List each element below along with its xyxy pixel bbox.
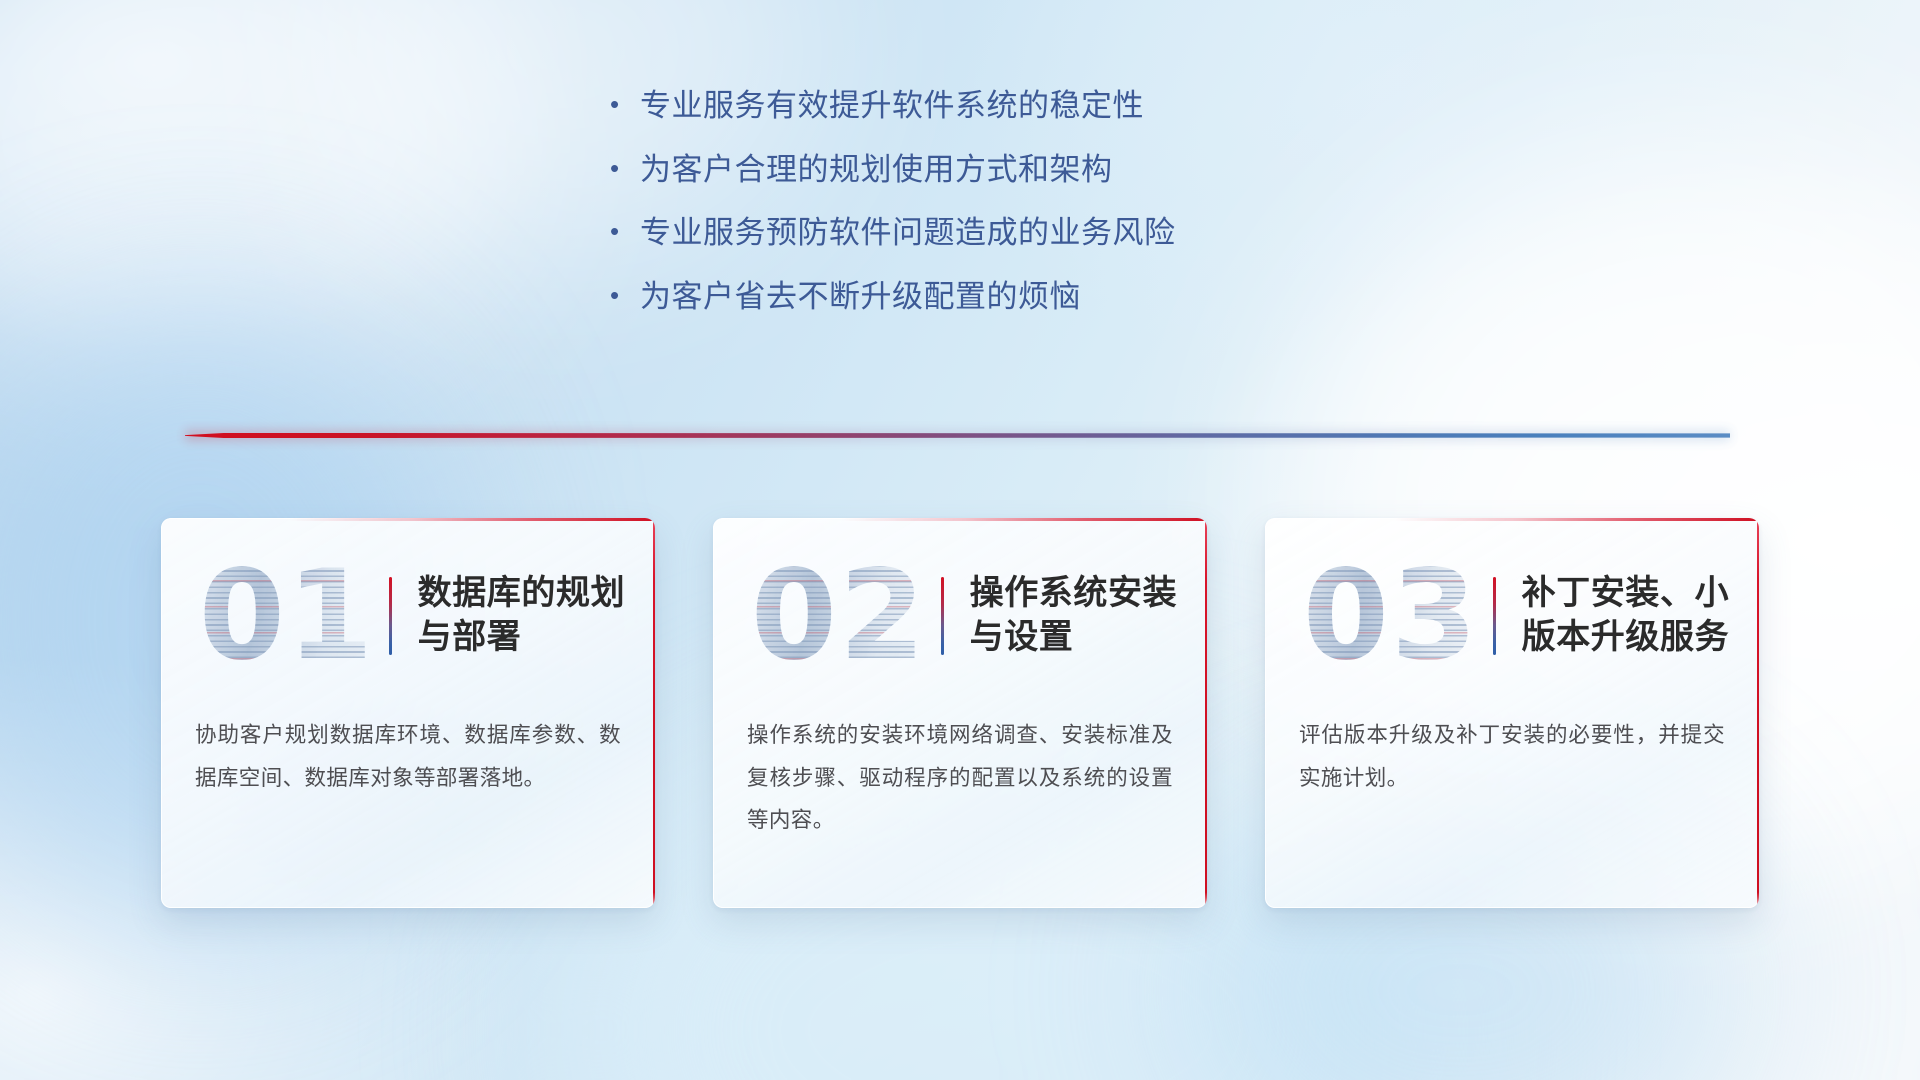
card-description: 评估版本升级及补丁安装的必要性，并提交实施计划。 bbox=[1299, 714, 1725, 799]
bullet-dot-icon: • bbox=[610, 155, 640, 181]
card-number-watermark: 02 bbox=[741, 554, 937, 678]
section-divider bbox=[185, 430, 1730, 441]
card-description: 协助客户规划数据库环境、数据库参数、数据库空间、数据库对象等部署落地。 bbox=[195, 714, 621, 799]
service-card-01[interactable]: 01 数据库的规划与部署 协助客户规划数据库环境、数据库参数、数据库空间、数据库… bbox=[161, 518, 655, 908]
list-item: • 为客户合理的规划使用方式和架构 bbox=[610, 152, 1310, 189]
list-item-label: 为客户合理的规划使用方式和架构 bbox=[640, 152, 1113, 189]
bullet-dot-icon: • bbox=[610, 282, 640, 308]
divider-bar bbox=[185, 433, 1730, 438]
list-item-label: 专业服务预防软件问题造成的业务风险 bbox=[640, 215, 1176, 252]
service-card-02[interactable]: 02 操作系统安装与设置 操作系统的安装环境网络调查、安装标准及复核步骤、驱动程… bbox=[713, 518, 1207, 908]
card-header: 03 补丁安装、小版本升级服务 bbox=[1265, 518, 1759, 714]
card-title: 补丁安装、小版本升级服务 bbox=[1522, 572, 1759, 659]
service-card-row: 01 数据库的规划与部署 协助客户规划数据库环境、数据库参数、数据库空间、数据库… bbox=[0, 518, 1920, 930]
card-title: 操作系统安装与设置 bbox=[970, 572, 1207, 659]
bullet-dot-icon: • bbox=[610, 91, 640, 117]
card-title-divider bbox=[1493, 577, 1496, 655]
card-header: 02 操作系统安装与设置 bbox=[713, 518, 1207, 714]
bullet-dot-icon: • bbox=[610, 218, 640, 244]
service-card-03[interactable]: 03 补丁安装、小版本升级服务 评估版本升级及补丁安装的必要性，并提交实施计划。 bbox=[1265, 518, 1759, 908]
list-item: • 为客户省去不断升级配置的烦恼 bbox=[610, 279, 1310, 316]
slide-canvas: • 专业服务有效提升软件系统的稳定性 • 为客户合理的规划使用方式和架构 • 专… bbox=[0, 0, 1920, 1080]
list-item: • 专业服务有效提升软件系统的稳定性 bbox=[610, 88, 1310, 125]
card-title-divider bbox=[389, 577, 392, 655]
card-header: 01 数据库的规划与部署 bbox=[161, 518, 655, 714]
card-number-watermark: 01 bbox=[189, 554, 385, 678]
card-description: 操作系统的安装环境网络调查、安装标准及复核步骤、驱动程序的配置以及系统的设置等内… bbox=[747, 714, 1173, 842]
list-item: • 专业服务预防软件问题造成的业务风险 bbox=[610, 215, 1310, 252]
benefits-bullet-list: • 专业服务有效提升软件系统的稳定性 • 为客户合理的规划使用方式和架构 • 专… bbox=[0, 88, 1920, 342]
card-title: 数据库的规划与部署 bbox=[418, 572, 655, 659]
card-title-divider bbox=[941, 577, 944, 655]
card-number-watermark: 03 bbox=[1293, 554, 1489, 678]
list-item-label: 为客户省去不断升级配置的烦恼 bbox=[640, 279, 1081, 316]
list-item-label: 专业服务有效提升软件系统的稳定性 bbox=[640, 88, 1144, 125]
